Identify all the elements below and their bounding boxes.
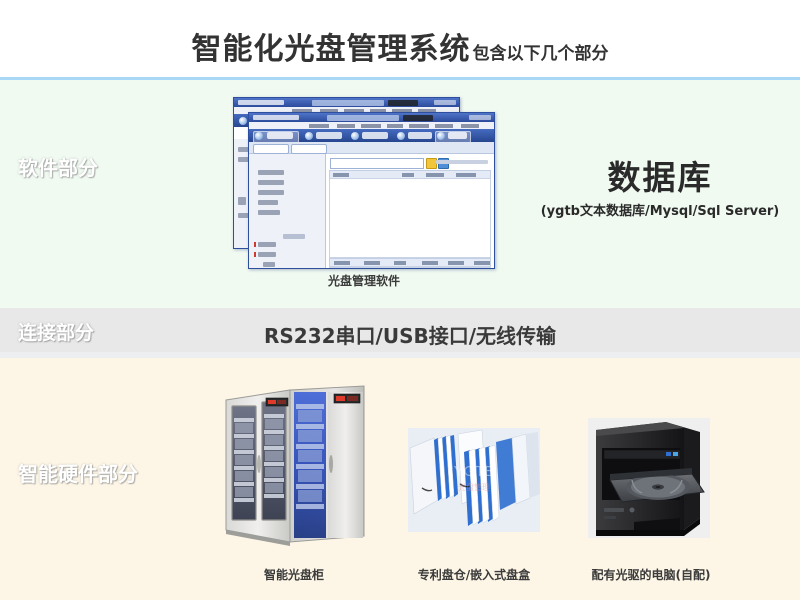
table-body-upper xyxy=(329,178,491,258)
window-titlebar xyxy=(249,113,494,122)
caption-cabinet: 智能光盘柜 xyxy=(214,566,374,583)
row-label-hardware: 智能硬件部分 xyxy=(18,458,138,487)
database-subtitle: (ygtb文本数据库/Mysql/Sql Server) xyxy=(520,200,800,219)
svg-text:YGTB: YGTB xyxy=(454,463,495,480)
database-block: 数据库 (ygtb文本数据库/Mysql/Sql Server) xyxy=(520,160,800,219)
svg-text:光盘管理: 光盘管理 xyxy=(458,482,490,492)
search-input[interactable] xyxy=(330,158,424,169)
page-title-main: 智能化光盘管理系统 xyxy=(192,32,471,67)
caption-software: 光盘管理软件 xyxy=(244,272,484,289)
software-screenshot-group xyxy=(233,97,493,267)
disc-magazine-image: YGTB 光盘管理 xyxy=(408,428,540,532)
database-title: 数据库 xyxy=(520,160,800,196)
page-header: 智能化光盘管理系统包含以下几个部分 xyxy=(0,0,800,78)
window-body xyxy=(249,142,494,268)
pc-with-optical-drive-image xyxy=(588,418,710,538)
caption-disc-magazine: 专利盘仓/嵌入式盘盒 xyxy=(398,566,550,583)
caption-pc: 配有光驱的电脑(自配) xyxy=(568,566,734,583)
diagram-page: 智能化光盘管理系统包含以下几个部分 软件部分 xyxy=(0,0,800,600)
page-title-sub: 包含以下几个部分 xyxy=(473,44,609,64)
page-title: 智能化光盘管理系统包含以下几个部分 xyxy=(0,24,800,68)
window-toolbar xyxy=(249,129,494,142)
window-left-pane xyxy=(249,154,326,268)
table-body-lower xyxy=(329,266,491,268)
window-tabstrip xyxy=(249,142,494,154)
row-label-software: 软件部分 xyxy=(18,152,98,181)
connection-text: RS232串口/USB接口/无线传输 xyxy=(200,320,620,349)
row-label-connection: 连接部分 xyxy=(18,318,94,345)
smart-disc-cabinet-image xyxy=(218,378,370,550)
window-titlebar xyxy=(234,98,459,107)
window-right-pane xyxy=(326,154,494,268)
window-menubar xyxy=(249,122,494,129)
app-window-front xyxy=(248,112,495,269)
